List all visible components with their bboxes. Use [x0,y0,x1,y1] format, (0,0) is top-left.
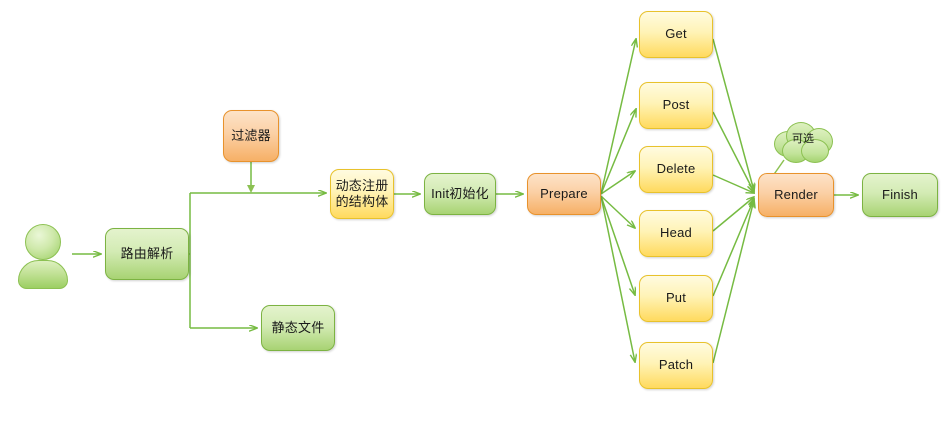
node-label: 动态注册的结构体 [336,178,389,211]
node-label: Render [774,187,818,203]
edge-head-render [713,197,754,231]
node-method-patch[interactable]: Patch [639,342,713,389]
edge-layer [0,0,951,448]
edge-prepare-post [601,109,636,194]
user-actor[interactable] [14,224,70,286]
node-label: Prepare [540,186,588,202]
node-label: Head [660,225,692,241]
edge-prepare-head [601,196,635,228]
node-label: Patch [659,357,693,373]
node-filter[interactable]: 过滤器 [223,110,279,162]
node-method-put[interactable]: Put [639,275,713,322]
node-label: Post [663,97,690,113]
flowchart-canvas: 可选 路由解析 过滤器 静态文件 动态注册的结构体 Init初始化 Prepar… [0,0,951,448]
node-method-get[interactable]: Get [639,11,713,58]
node-label: 过滤器 [231,128,271,144]
edge-prepare-put [601,196,635,295]
node-prepare[interactable]: Prepare [527,173,601,215]
node-label: Get [665,26,687,42]
edge-prepare-get [601,39,636,194]
edge-delete-render [713,175,754,193]
node-label: Delete [657,161,696,177]
callout-label: 可选 [772,130,834,146]
node-label: Init初始化 [431,186,489,202]
edge-patch-render [713,200,754,363]
edge-post-render [713,112,754,192]
node-render[interactable]: Render [758,173,834,217]
optional-callout: 可选 [772,121,834,165]
edge-get-render [713,39,754,191]
edge-prepare-delete [601,171,635,194]
actor-body-icon [18,260,68,289]
node-method-post[interactable]: Post [639,82,713,129]
edge-prepare-patch [601,196,635,362]
node-dynamic-struct[interactable]: 动态注册的结构体 [330,169,394,219]
node-label: 路由解析 [121,246,174,262]
node-route-parse[interactable]: 路由解析 [105,228,189,280]
node-finish[interactable]: Finish [862,173,938,217]
node-label: Finish [882,187,918,203]
node-static-file[interactable]: 静态文件 [261,305,335,351]
node-init[interactable]: Init初始化 [424,173,496,215]
actor-head-icon [25,224,61,260]
node-label: 静态文件 [272,320,325,336]
node-method-head[interactable]: Head [639,210,713,257]
node-label: Put [666,290,686,306]
edge-put-render [713,199,754,296]
node-method-delete[interactable]: Delete [639,146,713,193]
